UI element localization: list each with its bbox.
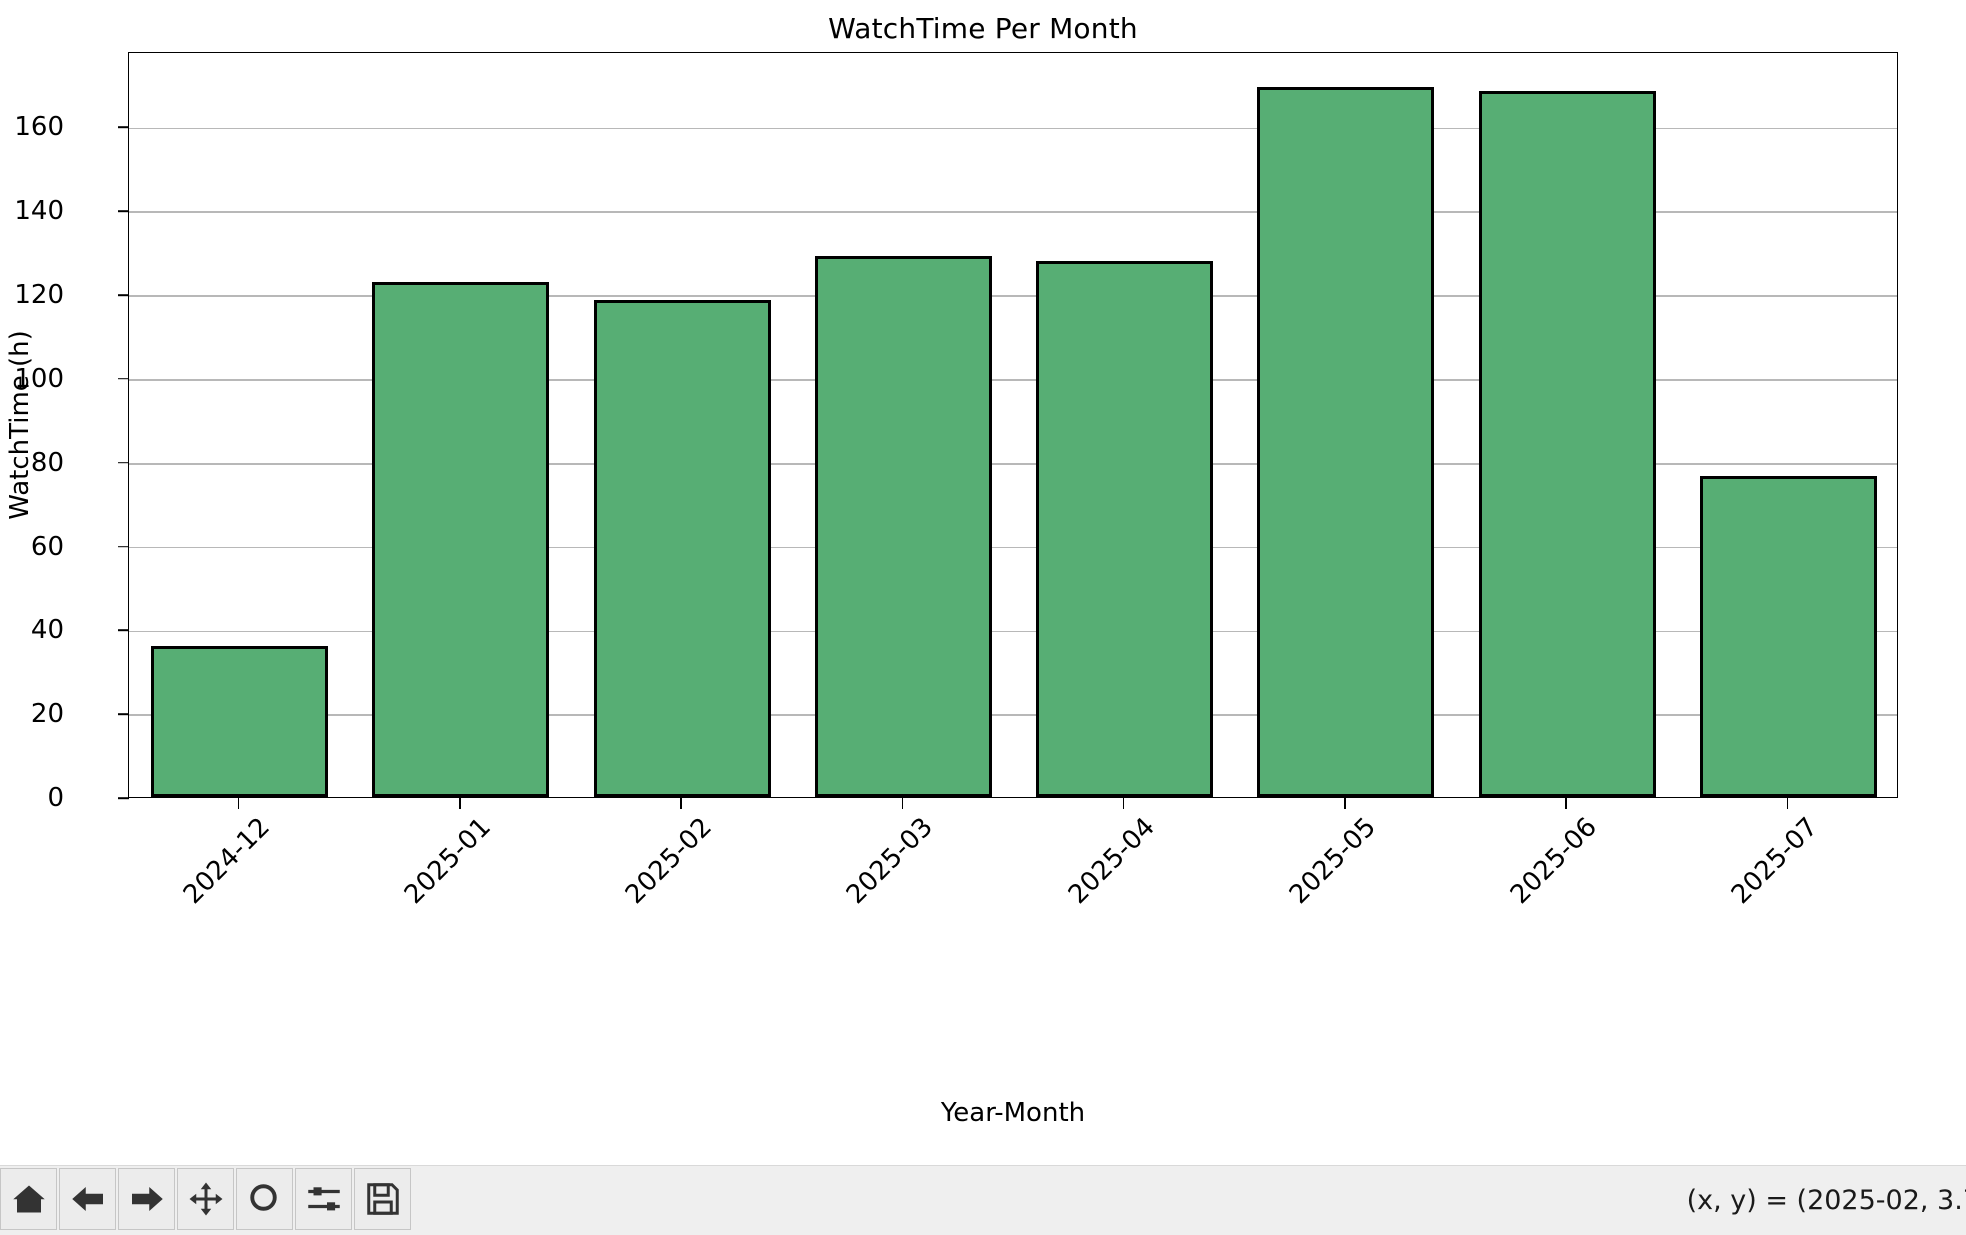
bar <box>151 646 328 797</box>
x-tick-label: 2024-12 <box>177 812 275 910</box>
bar <box>1257 87 1434 797</box>
figure-canvas[interactable]: WatchTime Per Month WatchTime (h) 020406… <box>0 0 1966 1165</box>
forward-arrow-icon <box>129 1181 165 1217</box>
coordinate-readout: (x, y) = (2025-02, 3.7 <box>1687 1166 1966 1235</box>
x-tick-mark <box>1565 798 1567 809</box>
y-tick-label: 120 <box>0 280 64 310</box>
y-axis-label: WatchTime (h) <box>0 52 40 798</box>
zoom-magnifier-icon <box>247 1181 283 1217</box>
x-tick-mark <box>1787 798 1789 809</box>
bar <box>815 256 992 797</box>
y-tick-label: 60 <box>0 532 64 562</box>
y-tick-label: 100 <box>0 364 64 394</box>
x-tick-mark <box>1344 798 1346 809</box>
x-tick-mark <box>238 798 240 809</box>
bar <box>1036 261 1213 797</box>
x-tick-mark <box>902 798 904 809</box>
bar <box>594 300 771 797</box>
zoom-button[interactable] <box>236 1168 293 1230</box>
pan-move-icon <box>188 1181 224 1217</box>
bar <box>372 282 549 797</box>
x-tick-label: 2025-06 <box>1505 812 1603 910</box>
x-axis-label: Year-Month <box>128 1098 1898 1128</box>
x-tick-label: 2025-02 <box>620 812 718 910</box>
back-button[interactable] <box>59 1168 116 1230</box>
y-tick-label: 80 <box>0 448 64 478</box>
x-tick-mark <box>1123 798 1125 809</box>
back-arrow-icon <box>70 1181 106 1217</box>
x-tick-label: 2025-07 <box>1726 812 1824 910</box>
y-tick-label: 140 <box>0 196 64 226</box>
home-icon <box>11 1181 47 1217</box>
y-axis-label-text: WatchTime (h) <box>5 330 35 520</box>
y-tick-label: 0 <box>0 783 64 813</box>
bar-series <box>129 53 1897 797</box>
y-tick-label: 40 <box>0 615 64 645</box>
x-tick-label: 2025-04 <box>1062 812 1160 910</box>
navigation-toolbar: (x, y) = (2025-02, 3.7 <box>0 1165 1966 1235</box>
save-button[interactable] <box>354 1168 411 1230</box>
y-tick-label: 20 <box>0 699 64 729</box>
x-tick-mark <box>459 798 461 809</box>
save-floppy-icon <box>365 1181 401 1217</box>
x-tick-mark <box>680 798 682 809</box>
plot-area[interactable] <box>128 52 1898 798</box>
matplotlib-figure-window: WatchTime Per Month WatchTime (h) 020406… <box>0 0 1966 1234</box>
x-tick-label: 2025-03 <box>841 812 939 910</box>
chart-title: WatchTime Per Month <box>0 12 1966 45</box>
configure-subplots-icon <box>306 1181 342 1217</box>
y-tick-label: 160 <box>0 112 64 142</box>
forward-button[interactable] <box>118 1168 175 1230</box>
configure-subplots-button[interactable] <box>295 1168 352 1230</box>
x-tick-label: 2025-01 <box>399 812 497 910</box>
bar <box>1700 476 1877 797</box>
bar <box>1479 91 1656 797</box>
home-button[interactable] <box>0 1168 57 1230</box>
pan-button[interactable] <box>177 1168 234 1230</box>
x-tick-label: 2025-05 <box>1284 812 1382 910</box>
